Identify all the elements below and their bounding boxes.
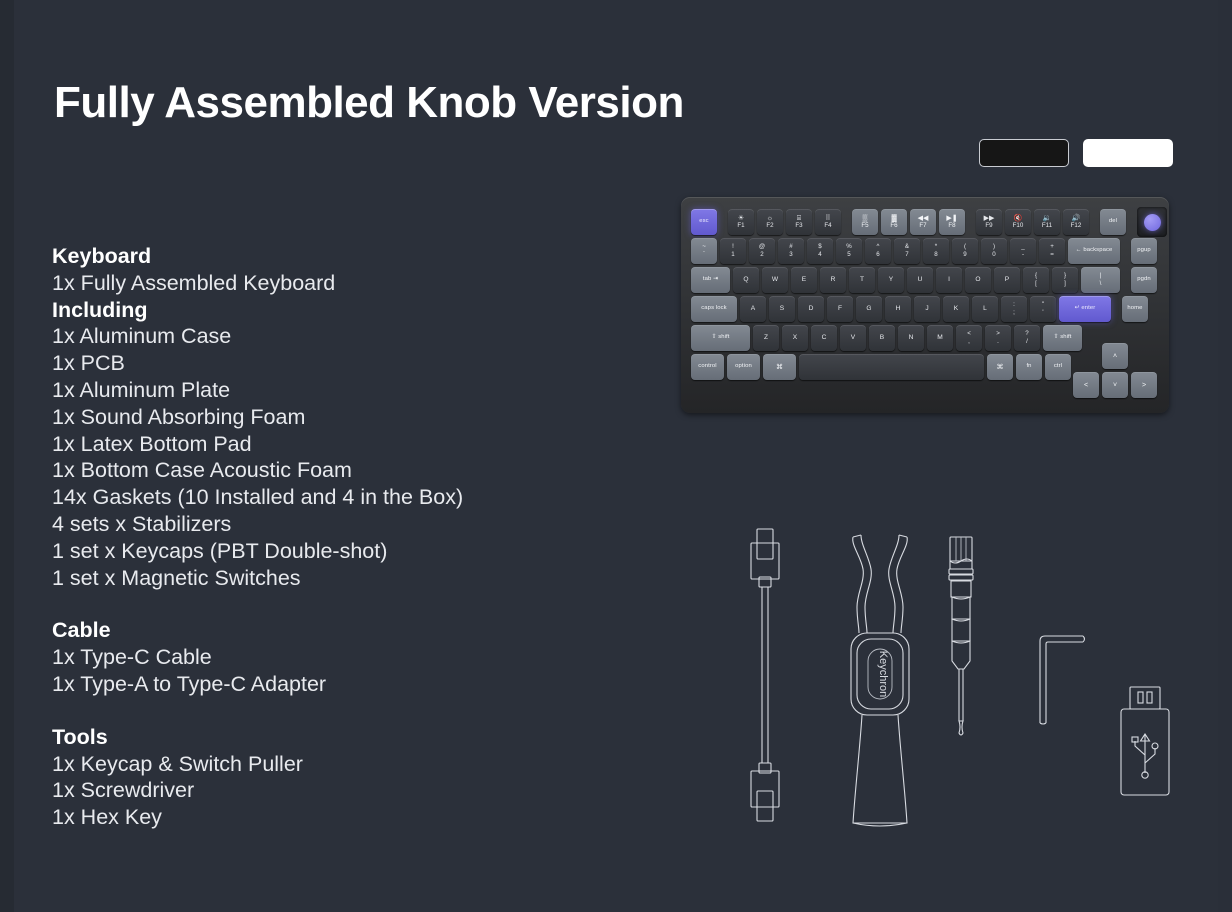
key-o[interactable]: O	[965, 267, 991, 293]
key-z[interactable]: Z	[753, 325, 779, 351]
key-q[interactable]: Q	[733, 267, 759, 293]
section-heading-including: Including	[52, 297, 572, 324]
keyboard-function-row: esc ☀F1 ☼F2 ⌸F3 ⠿F4 ▒F5 ▓F6 ◀◀F7 ▶❚F8 ▶▶…	[691, 209, 1159, 235]
key-w[interactable]: W	[762, 267, 788, 293]
key-f10[interactable]: 🔇F10	[1005, 209, 1031, 235]
keyboard-product-image: esc ☀F1 ☼F2 ⌸F3 ⠿F4 ▒F5 ▓F6 ◀◀F7 ▶❚F8 ▶▶…	[681, 197, 1169, 413]
key-y[interactable]: Y	[878, 267, 904, 293]
key-p[interactable]: P	[994, 267, 1020, 293]
key-9[interactable]: (9	[952, 238, 978, 264]
key-spacebar[interactable]	[799, 354, 984, 380]
spacer	[52, 591, 572, 617]
key-pgdn[interactable]: pgdn	[1131, 267, 1157, 293]
key-home[interactable]: home	[1122, 296, 1148, 322]
color-swatch-black[interactable]	[979, 139, 1069, 167]
screwdriver-illustration	[949, 537, 973, 735]
list-item: 1x Keycap & Switch Puller	[52, 751, 572, 778]
list-item: 1x Sound Absorbing Foam	[52, 404, 572, 431]
usb-trident-icon	[1132, 734, 1158, 778]
arrow-up-key[interactable]: ˄	[1102, 343, 1128, 369]
key-f5[interactable]: ▒F5	[852, 209, 878, 235]
list-item: 1x Aluminum Plate	[52, 377, 572, 404]
key-backtick[interactable]: ~`	[691, 238, 717, 264]
key-enter[interactable]: ↵ enter	[1059, 296, 1111, 322]
list-item: 4 sets x Stabilizers	[52, 511, 572, 538]
key-l[interactable]: L	[972, 296, 998, 322]
list-item: 1x Bottom Case Acoustic Foam	[52, 457, 572, 484]
key-s[interactable]: S	[769, 296, 795, 322]
list-item: 1x Aluminum Case	[52, 323, 572, 350]
key-f1[interactable]: ☀F1	[728, 209, 754, 235]
key-backspace[interactable]: ← backspace	[1068, 238, 1120, 264]
key-ctrl-right[interactable]: ctrl	[1045, 354, 1071, 380]
key-j[interactable]: J	[914, 296, 940, 322]
key-6[interactable]: ^6	[865, 238, 891, 264]
key-i[interactable]: I	[936, 267, 962, 293]
arrow-down-key[interactable]: ˅	[1102, 372, 1128, 398]
key-f9[interactable]: ▶▶F9	[976, 209, 1002, 235]
list-item: 1 set x Magnetic Switches	[52, 565, 572, 592]
key-u[interactable]: U	[907, 267, 933, 293]
key-control[interactable]: control	[691, 354, 724, 380]
accessories-illustrations: Keychron	[735, 515, 1185, 840]
key-n[interactable]: N	[898, 325, 924, 351]
key-g[interactable]: G	[856, 296, 882, 322]
key-m[interactable]: M	[927, 325, 953, 351]
key-command-left[interactable]: ⌘	[763, 354, 796, 380]
keyboard-qwerty-row: tab ⇥ Q W E R T Y U I O P {[ }] |\ pgdn	[691, 267, 1159, 293]
key-b[interactable]: B	[869, 325, 895, 351]
color-swatch-white[interactable]	[1083, 139, 1173, 167]
arrow-key-cluster: ˄ ˂ ˅ ˃	[1073, 343, 1157, 399]
key-period[interactable]: >.	[985, 325, 1011, 351]
key-f11[interactable]: 🔉F11	[1034, 209, 1060, 235]
key-3[interactable]: #3	[778, 238, 804, 264]
arrow-left-key[interactable]: ˂	[1073, 372, 1099, 398]
key-semicolon[interactable]: :;	[1001, 296, 1027, 322]
key-2[interactable]: @2	[749, 238, 775, 264]
list-item: 1x Fully Assembled Keyboard	[52, 270, 572, 297]
key-caps-lock[interactable]: caps lock	[691, 296, 737, 322]
right-edge-band	[1218, 0, 1232, 912]
key-comma[interactable]: <,	[956, 325, 982, 351]
arrow-right-key[interactable]: ˃	[1131, 372, 1157, 398]
key-command-right[interactable]: ⌘	[987, 354, 1013, 380]
key-f3[interactable]: ⌸F3	[786, 209, 812, 235]
key-equal[interactable]: +=	[1039, 238, 1065, 264]
key-k[interactable]: K	[943, 296, 969, 322]
key-bracket-left[interactable]: {[	[1023, 267, 1049, 293]
key-backslash[interactable]: |\	[1081, 267, 1120, 293]
list-item: 1x Screwdriver	[52, 777, 572, 804]
section-heading-cable: Cable	[52, 617, 572, 644]
type-c-cable-illustration	[751, 529, 779, 821]
section-heading-keyboard: Keyboard	[52, 243, 572, 270]
list-item: 1x Type-A to Type-C Adapter	[52, 671, 572, 698]
list-item: 1x PCB	[52, 350, 572, 377]
hex-key-illustration	[1040, 636, 1085, 724]
rotary-knob[interactable]	[1137, 207, 1167, 237]
puller-brand-text: Keychron	[877, 651, 889, 697]
key-tab[interactable]: tab ⇥	[691, 267, 730, 293]
key-f8[interactable]: ▶❚F8	[939, 209, 965, 235]
accessories-svg: Keychron	[735, 515, 1185, 840]
key-slash[interactable]: ?/	[1014, 325, 1040, 351]
left-edge-band	[0, 0, 14, 912]
key-a[interactable]: A	[740, 296, 766, 322]
color-swatch-group	[979, 139, 1173, 167]
key-fn[interactable]: fn	[1016, 354, 1042, 380]
keyboard-number-row: ~` !1 @2 #3 $4 %5 ^6 &7 *8 (9 )0 _- += ←…	[691, 238, 1159, 264]
page-title: Fully Assembled Knob Version	[54, 78, 684, 128]
key-8[interactable]: *8	[923, 238, 949, 264]
key-f4[interactable]: ⠿F4	[815, 209, 841, 235]
key-7[interactable]: &7	[894, 238, 920, 264]
spacer	[52, 698, 572, 724]
key-f6[interactable]: ▓F6	[881, 209, 907, 235]
key-f[interactable]: F	[827, 296, 853, 322]
slide-root: Fully Assembled Knob Version Keyboard 1x…	[0, 0, 1232, 912]
key-1[interactable]: !1	[720, 238, 746, 264]
section-heading-tools: Tools	[52, 724, 572, 751]
key-d[interactable]: D	[798, 296, 824, 322]
key-t[interactable]: T	[849, 267, 875, 293]
key-x[interactable]: X	[782, 325, 808, 351]
key-v[interactable]: V	[840, 325, 866, 351]
key-f2[interactable]: ☼F2	[757, 209, 783, 235]
knob-dial	[1144, 214, 1161, 231]
list-item: 1x Latex Bottom Pad	[52, 431, 572, 458]
list-item: 1x Type-C Cable	[52, 644, 572, 671]
key-f12[interactable]: 🔊F12	[1063, 209, 1089, 235]
list-item: 1 set x Keycaps (PBT Double-shot)	[52, 538, 572, 565]
key-quote[interactable]: "'	[1030, 296, 1056, 322]
key-f7[interactable]: ◀◀F7	[910, 209, 936, 235]
key-0[interactable]: )0	[981, 238, 1007, 264]
key-esc[interactable]: esc	[691, 209, 717, 235]
key-4[interactable]: $4	[807, 238, 833, 264]
key-r[interactable]: R	[820, 267, 846, 293]
key-bracket-right[interactable]: }]	[1052, 267, 1078, 293]
key-5[interactable]: %5	[836, 238, 862, 264]
list-item: 14x Gaskets (10 Installed and 4 in the B…	[52, 484, 572, 511]
key-option[interactable]: option	[727, 354, 760, 380]
key-h[interactable]: H	[885, 296, 911, 322]
package-contents-list: Keyboard 1x Fully Assembled Keyboard Inc…	[52, 243, 572, 831]
key-minus[interactable]: _-	[1010, 238, 1036, 264]
key-pgup[interactable]: pgup	[1131, 238, 1157, 264]
key-shift-left[interactable]: ⇧ shift	[691, 325, 750, 351]
key-e[interactable]: E	[791, 267, 817, 293]
list-item: 1x Hex Key	[52, 804, 572, 831]
key-delete[interactable]: del	[1100, 209, 1126, 235]
usb-type-a-adapter-illustration	[1121, 687, 1169, 795]
key-c[interactable]: C	[811, 325, 837, 351]
keyboard-home-row: caps lock A S D F G H J K L :; "' ↵ ente…	[691, 296, 1159, 322]
keycap-switch-puller-illustration: Keychron	[851, 535, 909, 826]
